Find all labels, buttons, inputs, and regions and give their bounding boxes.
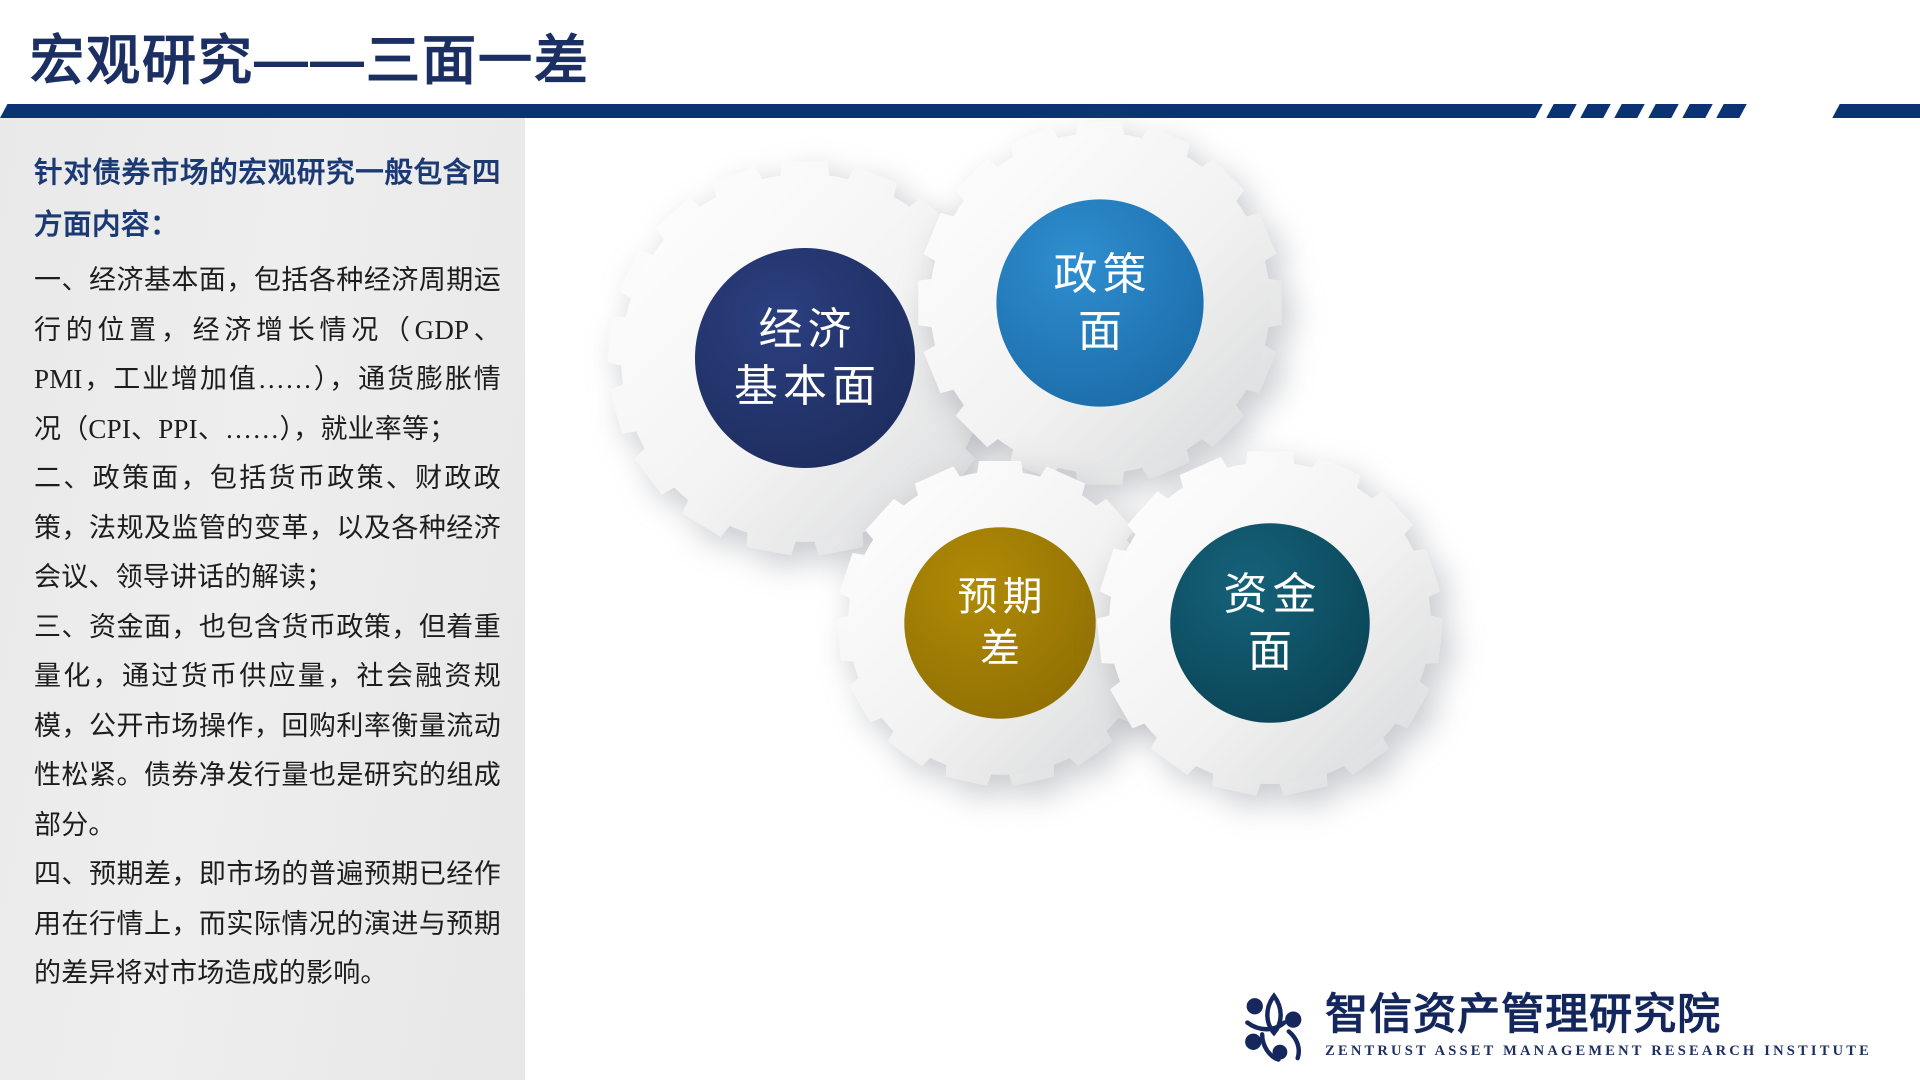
company-logo: 智信资产管理研究院 ZENTRUST ASSET MANAGEMENT RESE… [1237, 990, 1872, 1064]
gear-diagram: 经济 基本面 [525, 118, 1920, 1080]
text-panel-heading: 针对债券市场的宏观研究一般包含四方面内容： [34, 148, 501, 252]
paragraph-2: 二、政策面，包括货币政策、财政政策，法规及监管的变革，以及各种经济会议、领导讲话… [34, 454, 501, 603]
gear-policy: 政策 面 [915, 118, 1285, 488]
header-dash-decoration [1516, 104, 1826, 118]
header-dash [1512, 104, 1542, 118]
gear-policy-shape [915, 118, 1285, 488]
gear-funds-shape [1095, 448, 1445, 798]
header-dash [1614, 104, 1644, 118]
logo-name-en: ZENTRUST ASSET MANAGEMENT RESEARCH INSTI… [1325, 1043, 1872, 1060]
gear-funds: 资金 面 [1095, 448, 1445, 798]
header-accent-bar-end [1832, 104, 1920, 118]
logo-name-cn: 智信资产管理研究院 [1325, 994, 1872, 1037]
paragraph-3: 三、资金面，也包含货币政策，但着重量化，通过货币供应量，社会融资规模，公开市场操… [34, 603, 501, 851]
paragraph-1: 一、经济基本面，包括各种经济周期运行的位置，经济增长情况（GDP、PMI，工业增… [34, 256, 501, 454]
text-panel: 针对债券市场的宏观研究一般包含四方面内容： 一、经济基本面，包括各种经济周期运行… [0, 118, 525, 1080]
header-accent-bar [0, 104, 1523, 118]
slide-header: 宏观研究——三面一差 [0, 0, 1920, 110]
text-panel-body: 一、经济基本面，包括各种经济周期运行的位置，经济增长情况（GDP、PMI，工业增… [34, 256, 501, 999]
header-dash [1682, 104, 1712, 118]
slide: 宏观研究——三面一差 针对债券市场的宏观研究一般包含四方面内容： 一、经济基本面… [0, 0, 1920, 1080]
page-title: 宏观研究——三面一差 [30, 16, 590, 95]
logo-text-block: 智信资产管理研究院 ZENTRUST ASSET MANAGEMENT RESE… [1325, 994, 1872, 1060]
header-dash [1546, 104, 1576, 118]
header-dash [1648, 104, 1678, 118]
header-dash [1716, 104, 1746, 118]
zentrust-emblem-icon [1237, 990, 1311, 1064]
paragraph-4: 四、预期差，即市场的普遍预期已经作用在行情上，而实际情况的演进与预期的差异将对市… [34, 850, 501, 999]
header-dash [1580, 104, 1610, 118]
